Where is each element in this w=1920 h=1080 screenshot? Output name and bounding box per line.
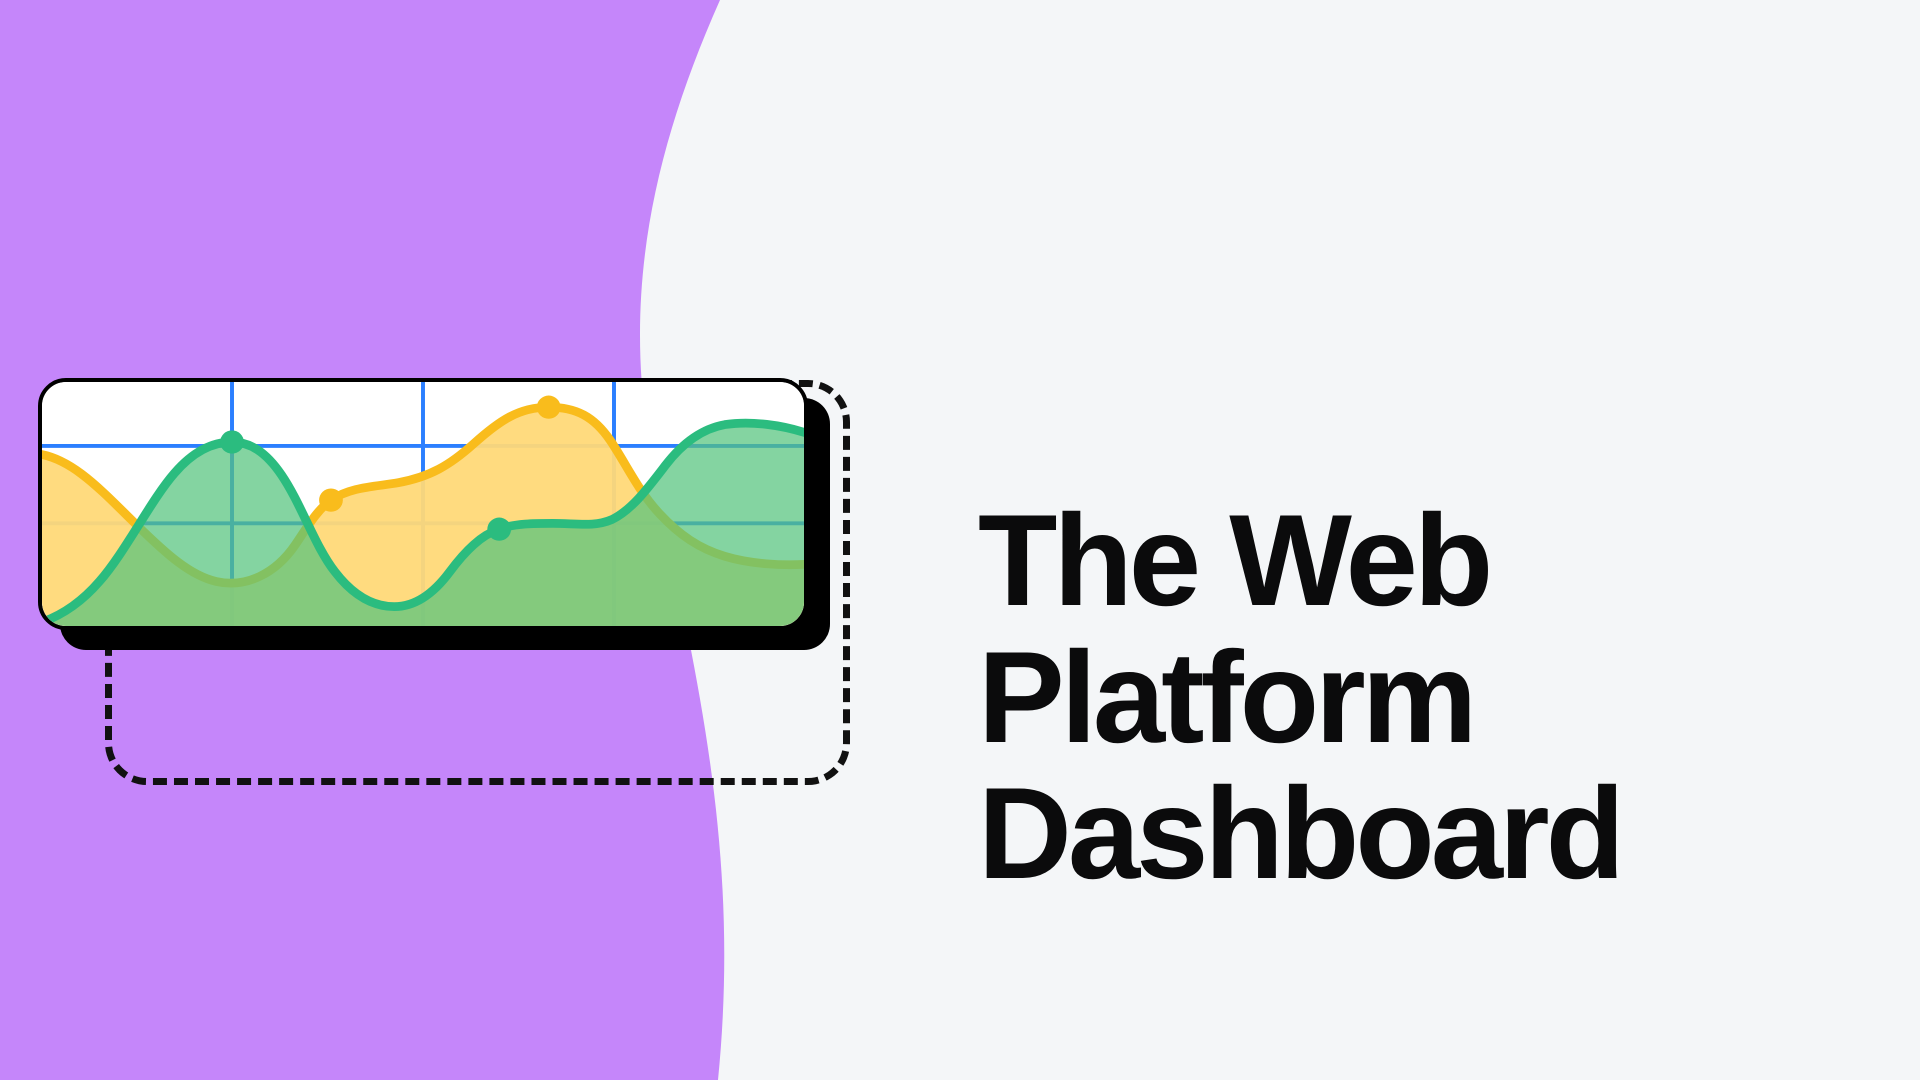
chart-preview-card[interactable]	[38, 378, 808, 630]
marker-green-1	[220, 430, 244, 453]
card-surface[interactable]	[38, 378, 808, 630]
page-root: The Web Platform Dashboard	[0, 0, 1920, 1080]
page-title: The Web Platform Dashboard	[978, 492, 1738, 902]
marker-green-2	[487, 518, 511, 541]
marker-yellow-1	[319, 489, 343, 512]
marker-yellow-2	[537, 396, 561, 419]
area-chart	[42, 382, 804, 626]
